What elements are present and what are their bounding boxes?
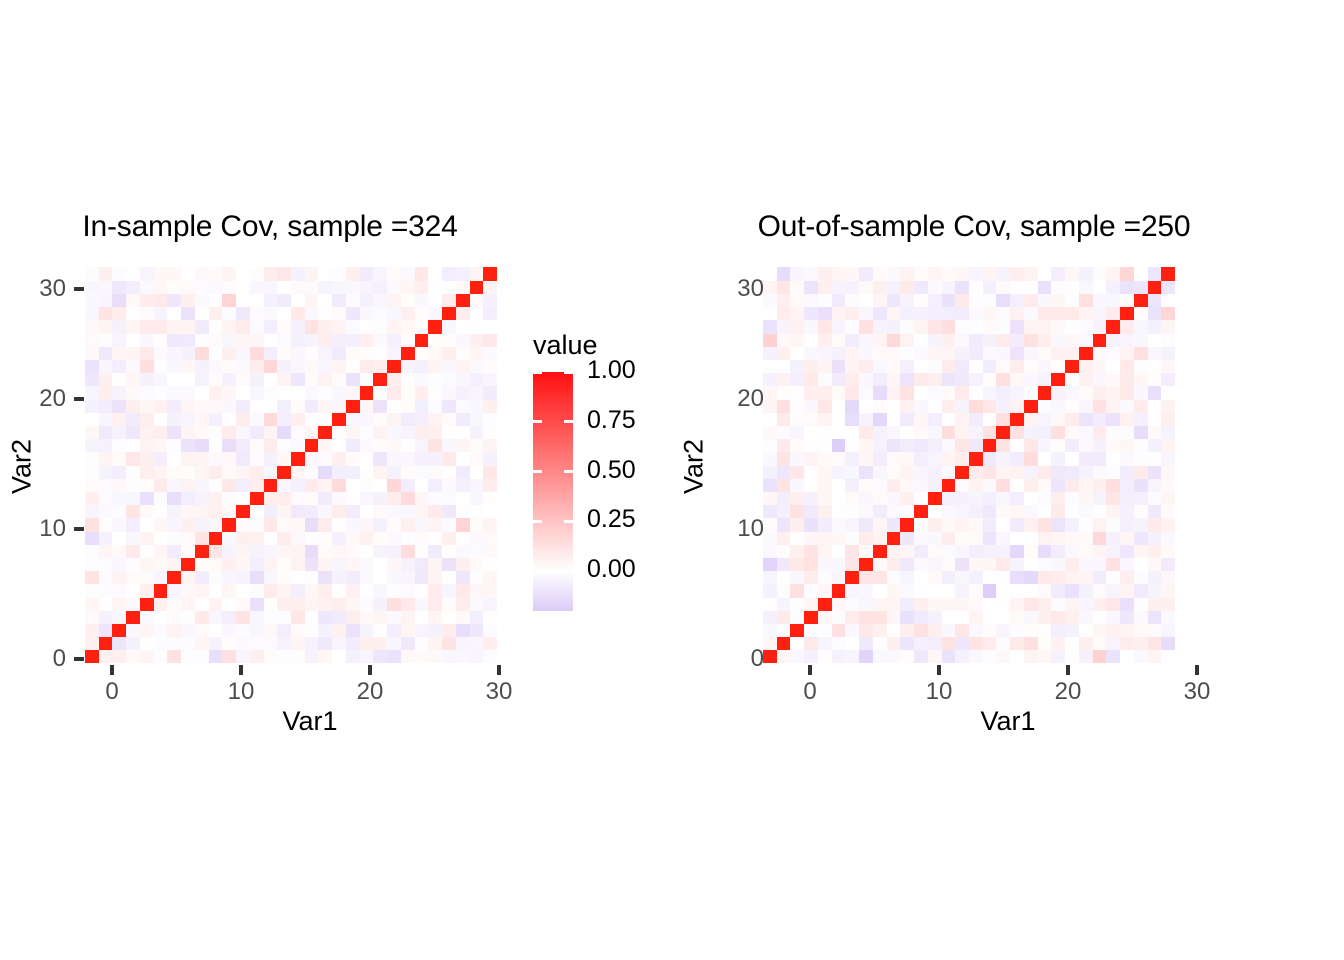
heatmap-cell bbox=[442, 465, 456, 479]
heatmap-cell bbox=[126, 399, 140, 413]
heatmap-cell bbox=[1148, 452, 1162, 466]
heatmap-cell bbox=[818, 399, 832, 413]
heatmap-cell bbox=[887, 465, 901, 479]
heatmap-cell bbox=[887, 320, 901, 334]
heatmap-cell bbox=[1051, 373, 1065, 387]
heatmap-cell bbox=[818, 637, 832, 651]
heatmap-cell bbox=[1120, 399, 1134, 413]
heatmap-cell bbox=[983, 623, 997, 637]
heatmap-cell bbox=[996, 518, 1010, 532]
heatmap-cell bbox=[859, 650, 873, 663]
heatmap-cell bbox=[996, 425, 1010, 439]
heatmap-cell bbox=[442, 346, 456, 360]
heatmap-cell bbox=[942, 267, 956, 281]
heatmap-cell bbox=[277, 399, 291, 413]
heatmap-cell bbox=[470, 373, 484, 387]
heatmap-cell bbox=[928, 386, 942, 400]
legend-colorbar-in-sample[interactable] bbox=[533, 372, 573, 611]
heatmap-cell bbox=[483, 518, 497, 532]
heatmap-cell bbox=[1120, 623, 1134, 637]
heatmap-cell bbox=[483, 531, 497, 545]
legend-tick-mark bbox=[533, 520, 542, 523]
heatmap-cell bbox=[195, 425, 209, 439]
heatmap-cell bbox=[1079, 650, 1093, 663]
heatmap-cell bbox=[387, 478, 401, 492]
heatmap-cell bbox=[900, 584, 914, 598]
plot-panel-in-sample[interactable] bbox=[85, 267, 497, 663]
heatmap-cell bbox=[360, 505, 374, 519]
heatmap-cell bbox=[1148, 293, 1162, 307]
heatmap-cell bbox=[1161, 584, 1175, 598]
heatmap-cell bbox=[470, 465, 484, 479]
heatmap-cell bbox=[969, 491, 983, 505]
heatmap-cell bbox=[236, 505, 250, 519]
heatmap-cell bbox=[790, 333, 804, 347]
heatmap-cell bbox=[112, 307, 126, 321]
heatmap-cell bbox=[346, 571, 360, 585]
heatmap-cell bbox=[873, 637, 887, 651]
heatmap-cell bbox=[332, 571, 346, 585]
heatmap-cell bbox=[277, 597, 291, 611]
heatmap-cell bbox=[955, 531, 969, 545]
heatmap-cell bbox=[442, 637, 456, 651]
heatmap-cell bbox=[777, 280, 791, 294]
heatmap-cell bbox=[428, 307, 442, 321]
heatmap-cell bbox=[887, 346, 901, 360]
heatmap-cell bbox=[942, 637, 956, 651]
heatmap-cell bbox=[1024, 491, 1038, 505]
heatmap-cell bbox=[373, 557, 387, 571]
heatmap-cell bbox=[415, 320, 429, 334]
heatmap-cell bbox=[277, 386, 291, 400]
heatmap-cell bbox=[996, 307, 1010, 321]
heatmap-cell bbox=[154, 293, 168, 307]
heatmap-cell bbox=[483, 293, 497, 307]
heatmap-cell bbox=[804, 584, 818, 598]
heatmap-cell bbox=[305, 650, 319, 663]
heatmap-cell bbox=[387, 267, 401, 281]
heatmap-cell bbox=[1134, 307, 1148, 321]
heatmap-cell bbox=[942, 439, 956, 453]
legend-tick-label: 1.00 bbox=[587, 356, 636, 385]
heatmap-cell bbox=[1161, 307, 1175, 321]
heatmap-cell bbox=[1051, 505, 1065, 519]
heatmap-cell bbox=[804, 359, 818, 373]
heatmap-cell bbox=[763, 584, 777, 598]
heatmap-cell bbox=[1065, 346, 1079, 360]
heatmap-cell bbox=[804, 346, 818, 360]
heatmap-cell bbox=[277, 425, 291, 439]
heatmap-cell bbox=[1065, 478, 1079, 492]
heatmap-cell bbox=[195, 439, 209, 453]
heatmap-cell bbox=[277, 623, 291, 637]
heatmap-cell bbox=[845, 557, 859, 571]
heatmap-cell bbox=[1051, 518, 1065, 532]
heatmap-cell bbox=[401, 571, 415, 585]
heatmap-cell bbox=[305, 610, 319, 624]
x-tick-label-20: 20 bbox=[340, 678, 400, 706]
heatmap-cell bbox=[470, 399, 484, 413]
heatmap-cell bbox=[777, 518, 791, 532]
heatmap-cell bbox=[1010, 623, 1024, 637]
x-tick-mark-20 bbox=[1066, 665, 1070, 675]
heatmap-cell bbox=[360, 412, 374, 426]
heatmap-cell bbox=[763, 531, 777, 545]
axis-title-x-out-of-sample: Var1 bbox=[838, 706, 1178, 737]
heatmap-cell bbox=[99, 557, 113, 571]
plot-title-in-sample: In-sample Cov, sample =324 bbox=[40, 210, 500, 244]
heatmap-cell bbox=[195, 307, 209, 321]
heatmap-cell bbox=[763, 439, 777, 453]
heatmap-cell bbox=[1106, 267, 1120, 281]
heatmap-cell bbox=[209, 439, 223, 453]
heatmap-cell bbox=[483, 320, 497, 334]
heatmap-cell bbox=[996, 267, 1010, 281]
heatmap-cell bbox=[291, 571, 305, 585]
heatmap-cell bbox=[1093, 571, 1107, 585]
heatmap-cell bbox=[195, 478, 209, 492]
heatmap-cell bbox=[914, 623, 928, 637]
heatmap-cell bbox=[291, 412, 305, 426]
heatmap-cell bbox=[983, 557, 997, 571]
heatmap-cell bbox=[1010, 399, 1024, 413]
heatmap-cell bbox=[873, 505, 887, 519]
heatmap-cell bbox=[955, 557, 969, 571]
heatmap-cell bbox=[1106, 465, 1120, 479]
heatmap-cell bbox=[85, 425, 99, 439]
heatmap-cell bbox=[85, 610, 99, 624]
heatmap-cell bbox=[373, 373, 387, 387]
heatmap-cell bbox=[332, 399, 346, 413]
heatmap-cell bbox=[832, 637, 846, 651]
heatmap-cell bbox=[373, 465, 387, 479]
heatmap-cell bbox=[1120, 584, 1134, 598]
heatmap-cell bbox=[1120, 425, 1134, 439]
heatmap-cell bbox=[264, 373, 278, 387]
heatmap-cell bbox=[401, 346, 415, 360]
heatmap-cell bbox=[955, 452, 969, 466]
heatmap-cell bbox=[804, 571, 818, 585]
heatmap-cell bbox=[373, 359, 387, 373]
heatmap-cell bbox=[167, 597, 181, 611]
heatmap-cell bbox=[777, 505, 791, 519]
heatmap-cell bbox=[181, 544, 195, 558]
heatmap-cell bbox=[804, 307, 818, 321]
heatmap-cell bbox=[1010, 425, 1024, 439]
heatmap-cell bbox=[845, 518, 859, 532]
heatmap-cell bbox=[250, 373, 264, 387]
heatmap-cell bbox=[873, 557, 887, 571]
heatmap-cell bbox=[277, 359, 291, 373]
heatmap-cell bbox=[804, 373, 818, 387]
heatmap-cell bbox=[777, 293, 791, 307]
heatmap-cell bbox=[983, 386, 997, 400]
heatmap-cell bbox=[140, 452, 154, 466]
heatmap-cell bbox=[763, 346, 777, 360]
legend-tick-label: 0.25 bbox=[587, 505, 636, 534]
heatmap-cell bbox=[777, 478, 791, 492]
heatmap-cell bbox=[1093, 386, 1107, 400]
heatmap-cell bbox=[1065, 359, 1079, 373]
heatmap-cell bbox=[1051, 425, 1065, 439]
heatmap-cell bbox=[777, 439, 791, 453]
heatmap-cell bbox=[291, 307, 305, 321]
heatmap-cell bbox=[845, 320, 859, 334]
heatmap-cell bbox=[154, 307, 168, 321]
heatmap-cell bbox=[415, 465, 429, 479]
heatmap-cell bbox=[928, 412, 942, 426]
heatmap-cell bbox=[845, 491, 859, 505]
heatmap-cell bbox=[983, 293, 997, 307]
heatmap-cell bbox=[112, 597, 126, 611]
heatmap-cell bbox=[126, 597, 140, 611]
heatmap-cell bbox=[1051, 280, 1065, 294]
plot-panel-out-of-sample[interactable] bbox=[763, 267, 1175, 663]
heatmap-cell bbox=[818, 439, 832, 453]
heatmap-cell bbox=[1106, 531, 1120, 545]
heatmap-cell bbox=[914, 531, 928, 545]
heatmap-cell bbox=[373, 505, 387, 519]
heatmap-cell bbox=[456, 293, 470, 307]
heatmap-cell bbox=[1010, 267, 1024, 281]
heatmap-cell bbox=[209, 650, 223, 663]
heatmap-cell bbox=[250, 333, 264, 347]
heatmap-cell bbox=[209, 412, 223, 426]
heatmap-cell bbox=[332, 425, 346, 439]
y-tick-label-30: 30 bbox=[712, 275, 764, 303]
heatmap-cell bbox=[250, 307, 264, 321]
heatmap-cell bbox=[346, 399, 360, 413]
heatmap-cell bbox=[195, 412, 209, 426]
heatmap-cell bbox=[373, 412, 387, 426]
heatmap-cell bbox=[873, 399, 887, 413]
heatmap-cell bbox=[305, 267, 319, 281]
heatmap-cell bbox=[1024, 320, 1038, 334]
heatmap-cell bbox=[195, 505, 209, 519]
heatmap-cell bbox=[112, 531, 126, 545]
heatmap-cell bbox=[1106, 584, 1120, 598]
heatmap-cell bbox=[209, 505, 223, 519]
heatmap-cell bbox=[955, 571, 969, 585]
heatmap-cell bbox=[387, 452, 401, 466]
heatmap-cell bbox=[167, 293, 181, 307]
heatmap-cell bbox=[900, 491, 914, 505]
heatmap-cell bbox=[914, 650, 928, 663]
heatmap-cell bbox=[264, 346, 278, 360]
heatmap-cell bbox=[318, 571, 332, 585]
heatmap-cell bbox=[818, 412, 832, 426]
heatmap-cell bbox=[887, 571, 901, 585]
heatmap-cell bbox=[181, 597, 195, 611]
heatmap-cell bbox=[250, 544, 264, 558]
heatmap-cell bbox=[99, 293, 113, 307]
heatmap-cell bbox=[85, 386, 99, 400]
heatmap-cell bbox=[483, 544, 497, 558]
heatmap-cell bbox=[126, 359, 140, 373]
heatmap-cell bbox=[305, 505, 319, 519]
heatmap-cell bbox=[236, 359, 250, 373]
heatmap-cell bbox=[1161, 267, 1175, 281]
heatmap-cell bbox=[154, 359, 168, 373]
heatmap-cell bbox=[969, 293, 983, 307]
heatmap-cell bbox=[1079, 373, 1093, 387]
heatmap-cell bbox=[428, 478, 442, 492]
heatmap-cell bbox=[818, 584, 832, 598]
heatmap-cell bbox=[373, 439, 387, 453]
heatmap-cell bbox=[818, 333, 832, 347]
heatmap-cell bbox=[428, 505, 442, 519]
heatmap-cell bbox=[428, 637, 442, 651]
heatmap-cell bbox=[914, 439, 928, 453]
heatmap-cell bbox=[1161, 623, 1175, 637]
heatmap-cell bbox=[1120, 610, 1134, 624]
heatmap-cell bbox=[305, 425, 319, 439]
heatmap-cell bbox=[250, 597, 264, 611]
heatmap-cell bbox=[996, 557, 1010, 571]
heatmap-cell bbox=[264, 412, 278, 426]
heatmap-cell bbox=[470, 623, 484, 637]
heatmap-cell bbox=[804, 320, 818, 334]
heatmap-cell bbox=[401, 267, 415, 281]
heatmap-cell bbox=[969, 412, 983, 426]
heatmap-cell bbox=[250, 412, 264, 426]
heatmap-cell bbox=[140, 267, 154, 281]
heatmap-cell bbox=[126, 623, 140, 637]
heatmap-cell bbox=[154, 623, 168, 637]
heatmap-cell bbox=[428, 544, 442, 558]
heatmap-cell bbox=[887, 373, 901, 387]
heatmap-cell bbox=[887, 386, 901, 400]
legend-tick-mark bbox=[533, 420, 542, 423]
heatmap-cell bbox=[955, 386, 969, 400]
heatmap-cell bbox=[373, 597, 387, 611]
heatmap-cell bbox=[928, 650, 942, 663]
heatmap-cell bbox=[790, 491, 804, 505]
heatmap-cell bbox=[99, 571, 113, 585]
heatmap-cell bbox=[346, 637, 360, 651]
heatmap-cell bbox=[1120, 650, 1134, 663]
heatmap-cell bbox=[277, 293, 291, 307]
heatmap-cell bbox=[332, 518, 346, 532]
heatmap-cell bbox=[1148, 333, 1162, 347]
heatmap-cell bbox=[222, 386, 236, 400]
heatmap-cell bbox=[887, 478, 901, 492]
heatmap-cell bbox=[442, 280, 456, 294]
heatmap-cell bbox=[1024, 307, 1038, 321]
heatmap-cell bbox=[140, 346, 154, 360]
heatmap-cell bbox=[415, 557, 429, 571]
heatmap-cell bbox=[264, 531, 278, 545]
heatmap-cell bbox=[373, 346, 387, 360]
heatmap-cell bbox=[1051, 557, 1065, 571]
heatmap-cell bbox=[832, 373, 846, 387]
heatmap-cell bbox=[887, 544, 901, 558]
heatmap-cell bbox=[154, 280, 168, 294]
heatmap-cell bbox=[1038, 346, 1052, 360]
legend-tick-mark bbox=[564, 470, 573, 473]
heatmap-cell bbox=[955, 373, 969, 387]
heatmap-cell bbox=[1065, 439, 1079, 453]
heatmap-cell bbox=[900, 650, 914, 663]
heatmap-cell bbox=[1106, 373, 1120, 387]
heatmap-cell bbox=[222, 491, 236, 505]
heatmap-cell bbox=[818, 280, 832, 294]
heatmap-cell bbox=[1079, 439, 1093, 453]
heatmap-cell bbox=[996, 386, 1010, 400]
heatmap-cell bbox=[222, 557, 236, 571]
heatmap-cell bbox=[264, 505, 278, 519]
heatmap-cell bbox=[195, 531, 209, 545]
panel-group-in-sample: In-sample Cov, sample =324 Var2 0 10 20 … bbox=[0, 0, 672, 960]
heatmap-cell bbox=[264, 518, 278, 532]
heatmap-cell bbox=[360, 373, 374, 387]
heatmap-cell bbox=[1120, 478, 1134, 492]
heatmap-cell bbox=[387, 650, 401, 663]
heatmap-cell bbox=[85, 491, 99, 505]
heatmap-cell bbox=[470, 267, 484, 281]
heatmap-cell bbox=[291, 505, 305, 519]
heatmap-cell bbox=[763, 425, 777, 439]
heatmap-cell bbox=[415, 623, 429, 637]
heatmap-cell bbox=[1079, 333, 1093, 347]
heatmap-cell bbox=[832, 280, 846, 294]
heatmap-cell bbox=[1010, 637, 1024, 651]
heatmap-cell bbox=[85, 359, 99, 373]
heatmap-cell bbox=[900, 280, 914, 294]
heatmap-cell bbox=[99, 491, 113, 505]
heatmap-cell bbox=[763, 267, 777, 281]
heatmap-cell bbox=[1079, 280, 1093, 294]
heatmap-cell bbox=[914, 465, 928, 479]
heatmap-cell bbox=[763, 465, 777, 479]
y-tick-label-30: 30 bbox=[14, 275, 66, 303]
heatmap-cell bbox=[332, 373, 346, 387]
heatmap-cell bbox=[456, 386, 470, 400]
heatmap-cell bbox=[1051, 359, 1065, 373]
heatmap-cell bbox=[291, 491, 305, 505]
heatmap-cell bbox=[1134, 637, 1148, 651]
heatmap-cell bbox=[332, 531, 346, 545]
heatmap-cell bbox=[763, 399, 777, 413]
heatmap-cell bbox=[983, 307, 997, 321]
heatmap-cell bbox=[167, 333, 181, 347]
heatmap-cell bbox=[291, 293, 305, 307]
heatmap-cell bbox=[1010, 359, 1024, 373]
heatmap-cell bbox=[1106, 597, 1120, 611]
heatmap-cell bbox=[236, 386, 250, 400]
heatmap-cell bbox=[428, 584, 442, 598]
heatmap-cell bbox=[1148, 307, 1162, 321]
heatmap-cell bbox=[1106, 307, 1120, 321]
heatmap-cell bbox=[914, 359, 928, 373]
heatmap-cell bbox=[85, 531, 99, 545]
heatmap-cell bbox=[1010, 346, 1024, 360]
heatmap-cell bbox=[250, 399, 264, 413]
heatmap-cell bbox=[942, 557, 956, 571]
heatmap-cell bbox=[456, 610, 470, 624]
heatmap-cell bbox=[1065, 320, 1079, 334]
heatmap-cell bbox=[222, 373, 236, 387]
heatmap-cell bbox=[1024, 359, 1038, 373]
heatmap-cell bbox=[996, 584, 1010, 598]
heatmap-cell bbox=[428, 346, 442, 360]
heatmap-cell bbox=[85, 452, 99, 466]
heatmap-cell bbox=[85, 597, 99, 611]
heatmap-cell bbox=[763, 452, 777, 466]
heatmap-cell bbox=[126, 373, 140, 387]
heatmap-cell bbox=[387, 412, 401, 426]
heatmap-cell bbox=[887, 280, 901, 294]
